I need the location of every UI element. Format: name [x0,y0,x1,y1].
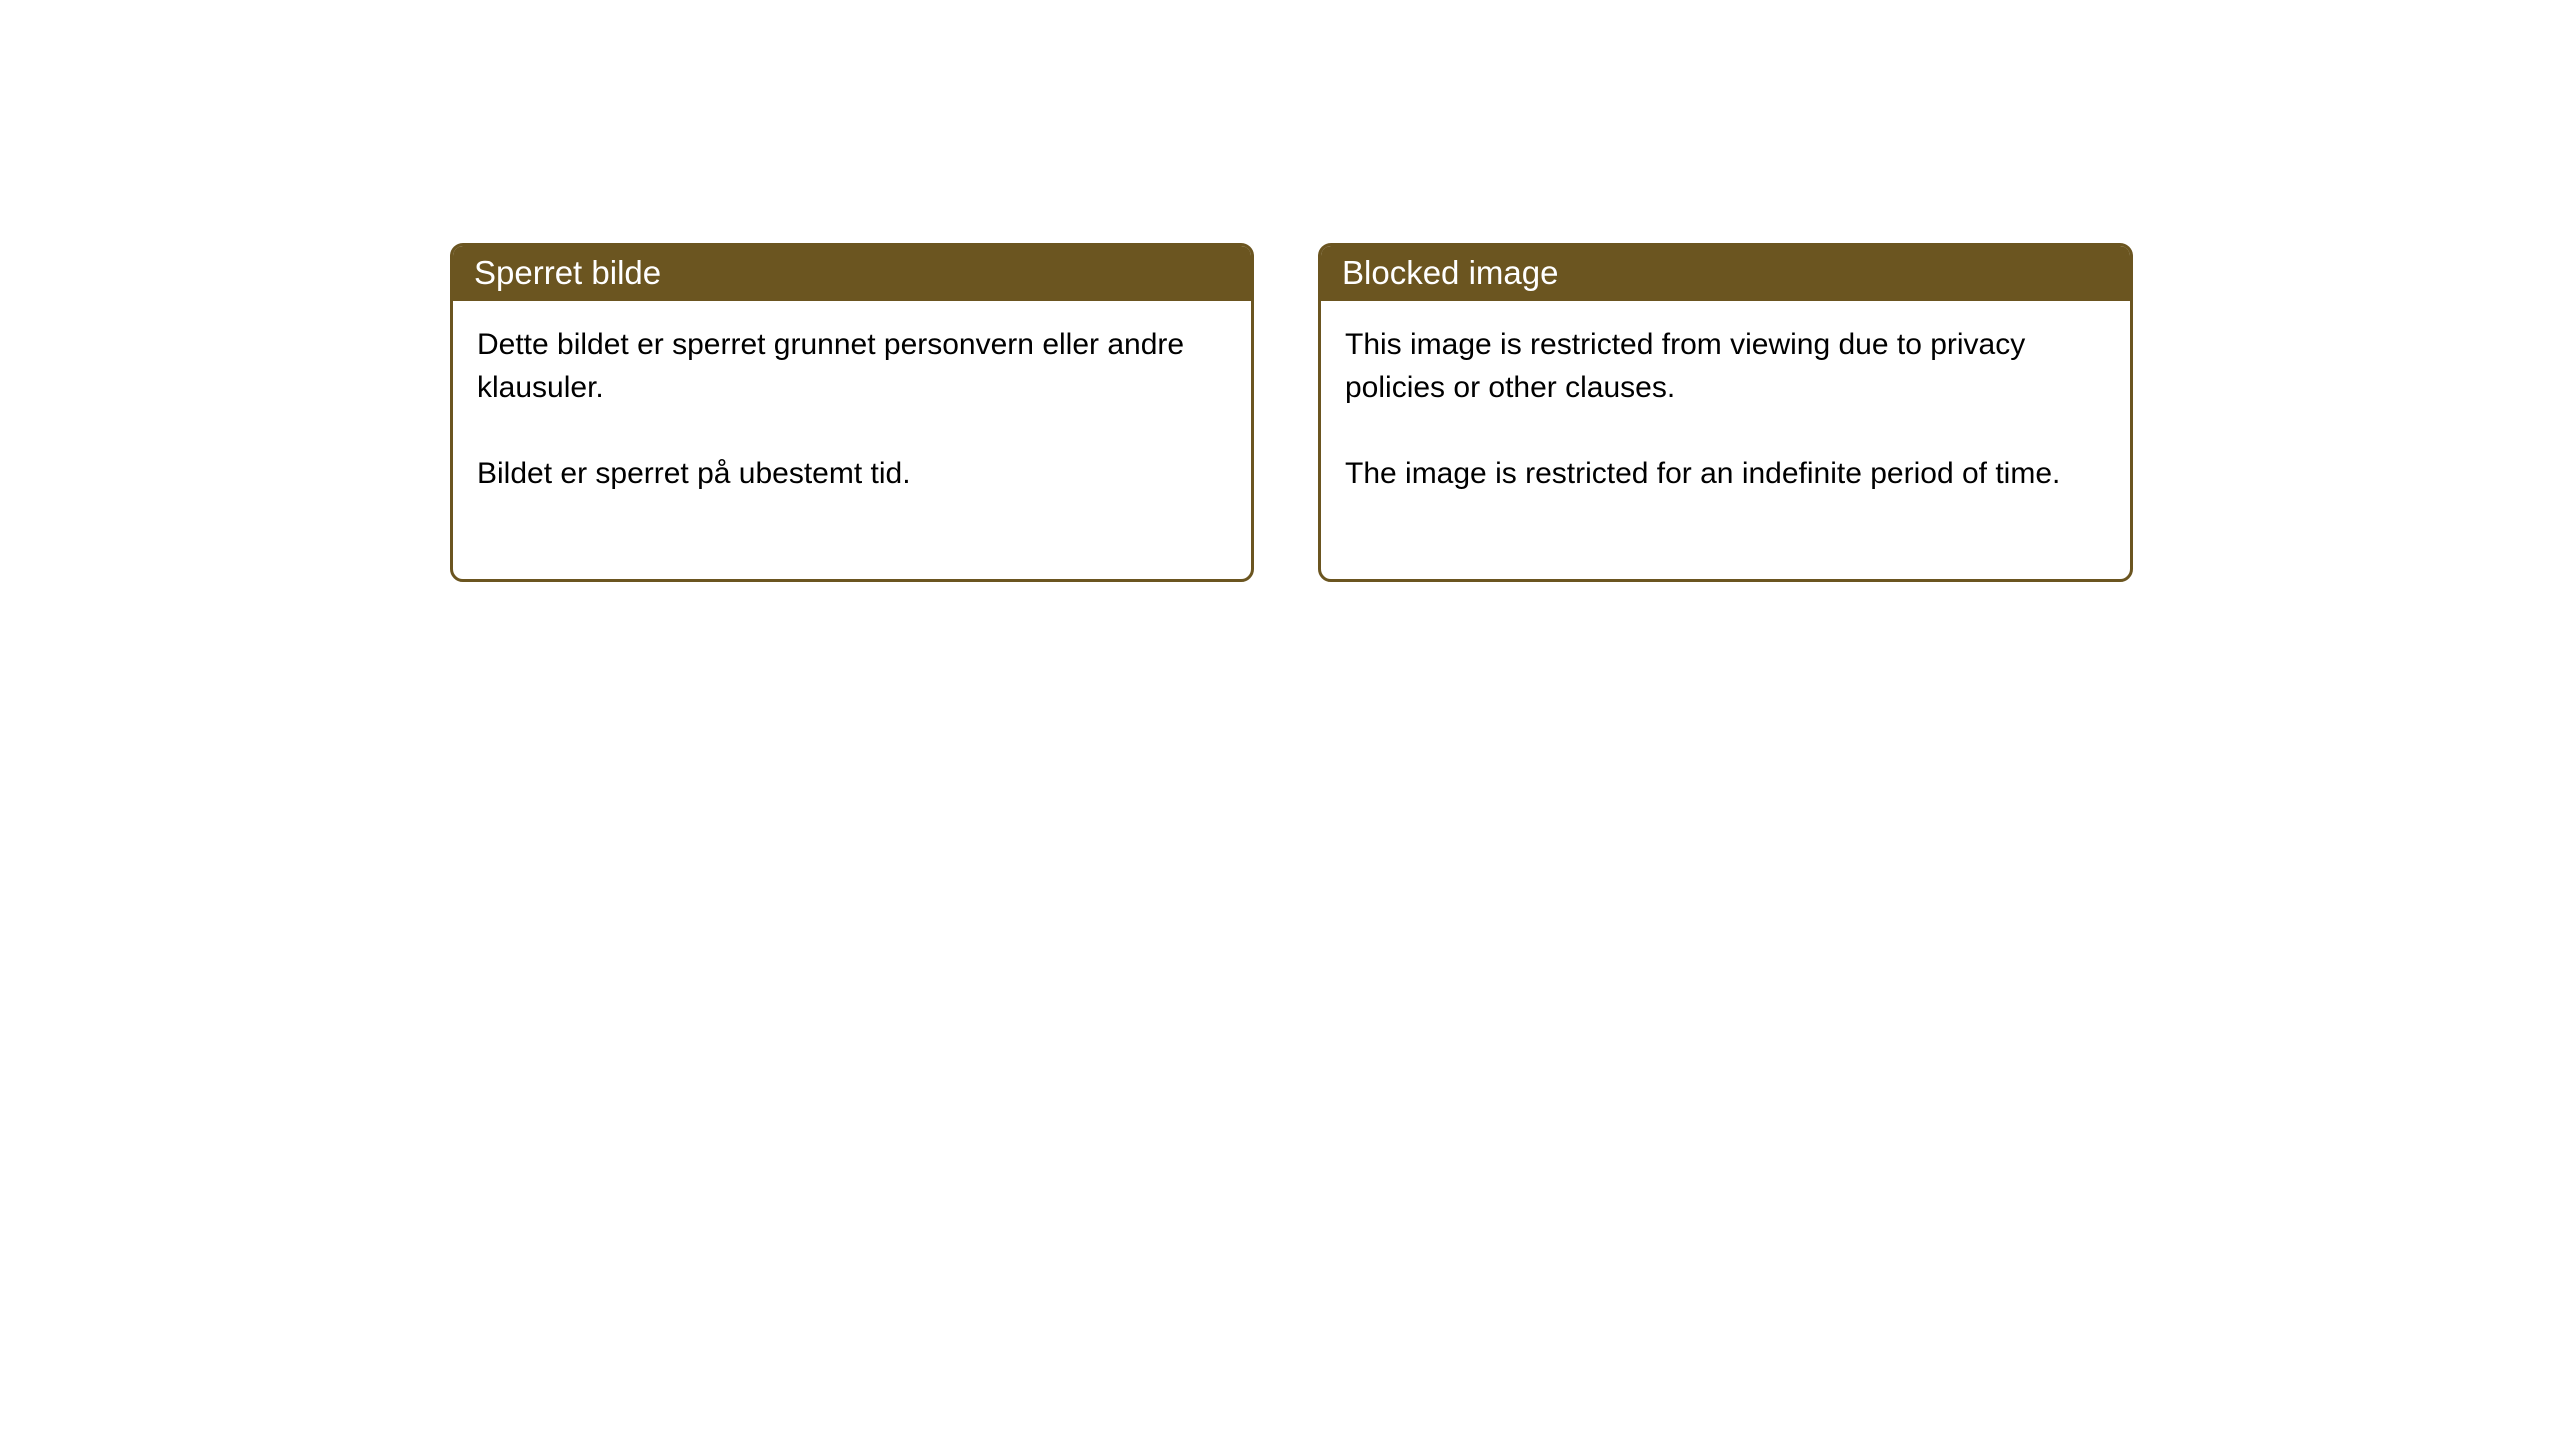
blocked-image-notice-card-norwegian: Sperret bilde Dette bildet er sperret gr… [450,243,1254,582]
card-title-english: Blocked image [1342,256,1558,289]
card-paragraph-reason-norwegian: Dette bildet er sperret grunnet personve… [477,323,1225,409]
card-title-norwegian: Sperret bilde [474,256,661,289]
card-body-english: This image is restricted from viewing du… [1321,301,2130,495]
card-header-english: Blocked image [1318,243,2133,301]
card-paragraph-duration-english: The image is restricted for an indefinit… [1345,452,2104,495]
card-header-norwegian: Sperret bilde [450,243,1254,301]
page-root: Sperret bilde Dette bildet er sperret gr… [0,0,2560,1440]
card-body-norwegian: Dette bildet er sperret grunnet personve… [453,301,1251,495]
card-paragraph-reason-english: This image is restricted from viewing du… [1345,323,2104,409]
card-paragraph-duration-norwegian: Bildet er sperret på ubestemt tid. [477,452,1225,495]
blocked-image-notice-card-english: Blocked image This image is restricted f… [1318,243,2133,582]
